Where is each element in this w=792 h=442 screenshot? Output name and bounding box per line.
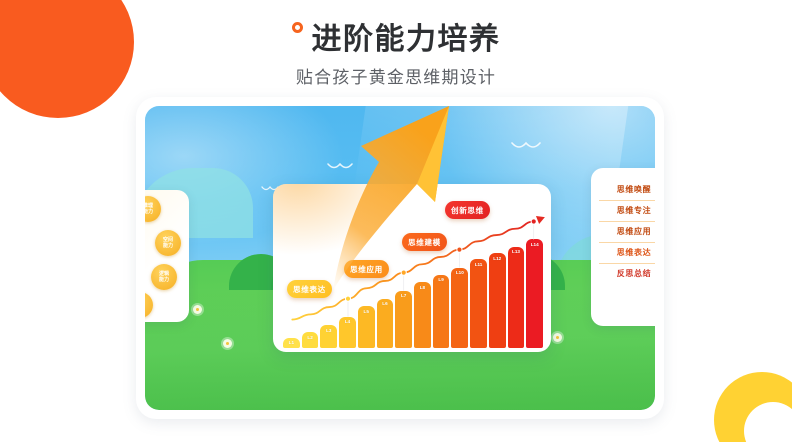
scene: 力 推理能力 空间能力 逻辑能力 运算能力 思维唤醒 思 <box>145 106 655 410</box>
ability-badge-2-line2: 能力 <box>163 243 173 250</box>
annotation-badge-express[interactable]: 思维表达 <box>287 280 332 298</box>
ability-badge-3[interactable]: 逻辑能力 <box>151 264 177 290</box>
curve-point-1[interactable] <box>345 296 350 301</box>
growth-chart-card: L1L2L3L4L5L6L7L8L9L10L11L12L13L14 思维表达 思… <box>273 184 551 352</box>
annotation-badge-innovation[interactable]: 创新思维 <box>445 201 490 219</box>
stage-list-item-4[interactable]: 思维表达 <box>599 242 655 263</box>
poster-canvas: 进阶能力培养 贴合孩子黄金思维期设计 <box>0 0 792 442</box>
annotation-badge-apply[interactable]: 思维应用 <box>344 260 389 278</box>
stage-list-item-5[interactable]: 反思总结 <box>599 263 655 284</box>
flower <box>553 333 562 342</box>
page-subtitle: 贴合孩子黄金思维期设计 <box>0 63 792 88</box>
growth-curve <box>273 184 551 352</box>
curve-arrow-head <box>536 216 545 224</box>
stage-list-panel[interactable]: 思维唤醒 思维专注 思维应用 思维表达 反思总结 <box>591 168 655 326</box>
ability-badge-3-line2: 能力 <box>159 277 169 284</box>
page-title: 进阶能力培养 <box>312 14 501 58</box>
heading-block: 进阶能力培养 贴合孩子黄金思维期设计 <box>0 14 792 88</box>
illustration-frame: 力 推理能力 空间能力 逻辑能力 运算能力 思维唤醒 思 <box>136 97 664 419</box>
bird-icon <box>511 140 541 153</box>
curve-point-2[interactable] <box>401 270 406 275</box>
ring-dot-icon <box>292 22 303 33</box>
flower <box>223 339 232 348</box>
curve-point-4[interactable] <box>531 219 536 224</box>
ability-badge-2[interactable]: 空间能力 <box>155 230 181 256</box>
ability-wheel-panel[interactable]: 力 推理能力 空间能力 逻辑能力 运算能力 <box>145 190 189 322</box>
flower <box>193 305 202 314</box>
yellow-ring-decoration <box>714 372 792 442</box>
annotation-badge-model[interactable]: 思维建模 <box>402 233 447 251</box>
ability-badge-4[interactable]: 运算能力 <box>145 292 153 318</box>
curve-point-3[interactable] <box>457 247 462 252</box>
stage-list-item-1[interactable]: 思维唤醒 <box>599 180 655 200</box>
bird-icon <box>327 162 353 173</box>
stage-list-item-3[interactable]: 思维应用 <box>599 221 655 242</box>
ability-badge-1-line2: 能力 <box>145 209 153 216</box>
ability-badge-1[interactable]: 推理能力 <box>145 196 161 222</box>
stage-list-item-2[interactable]: 思维专注 <box>599 200 655 221</box>
